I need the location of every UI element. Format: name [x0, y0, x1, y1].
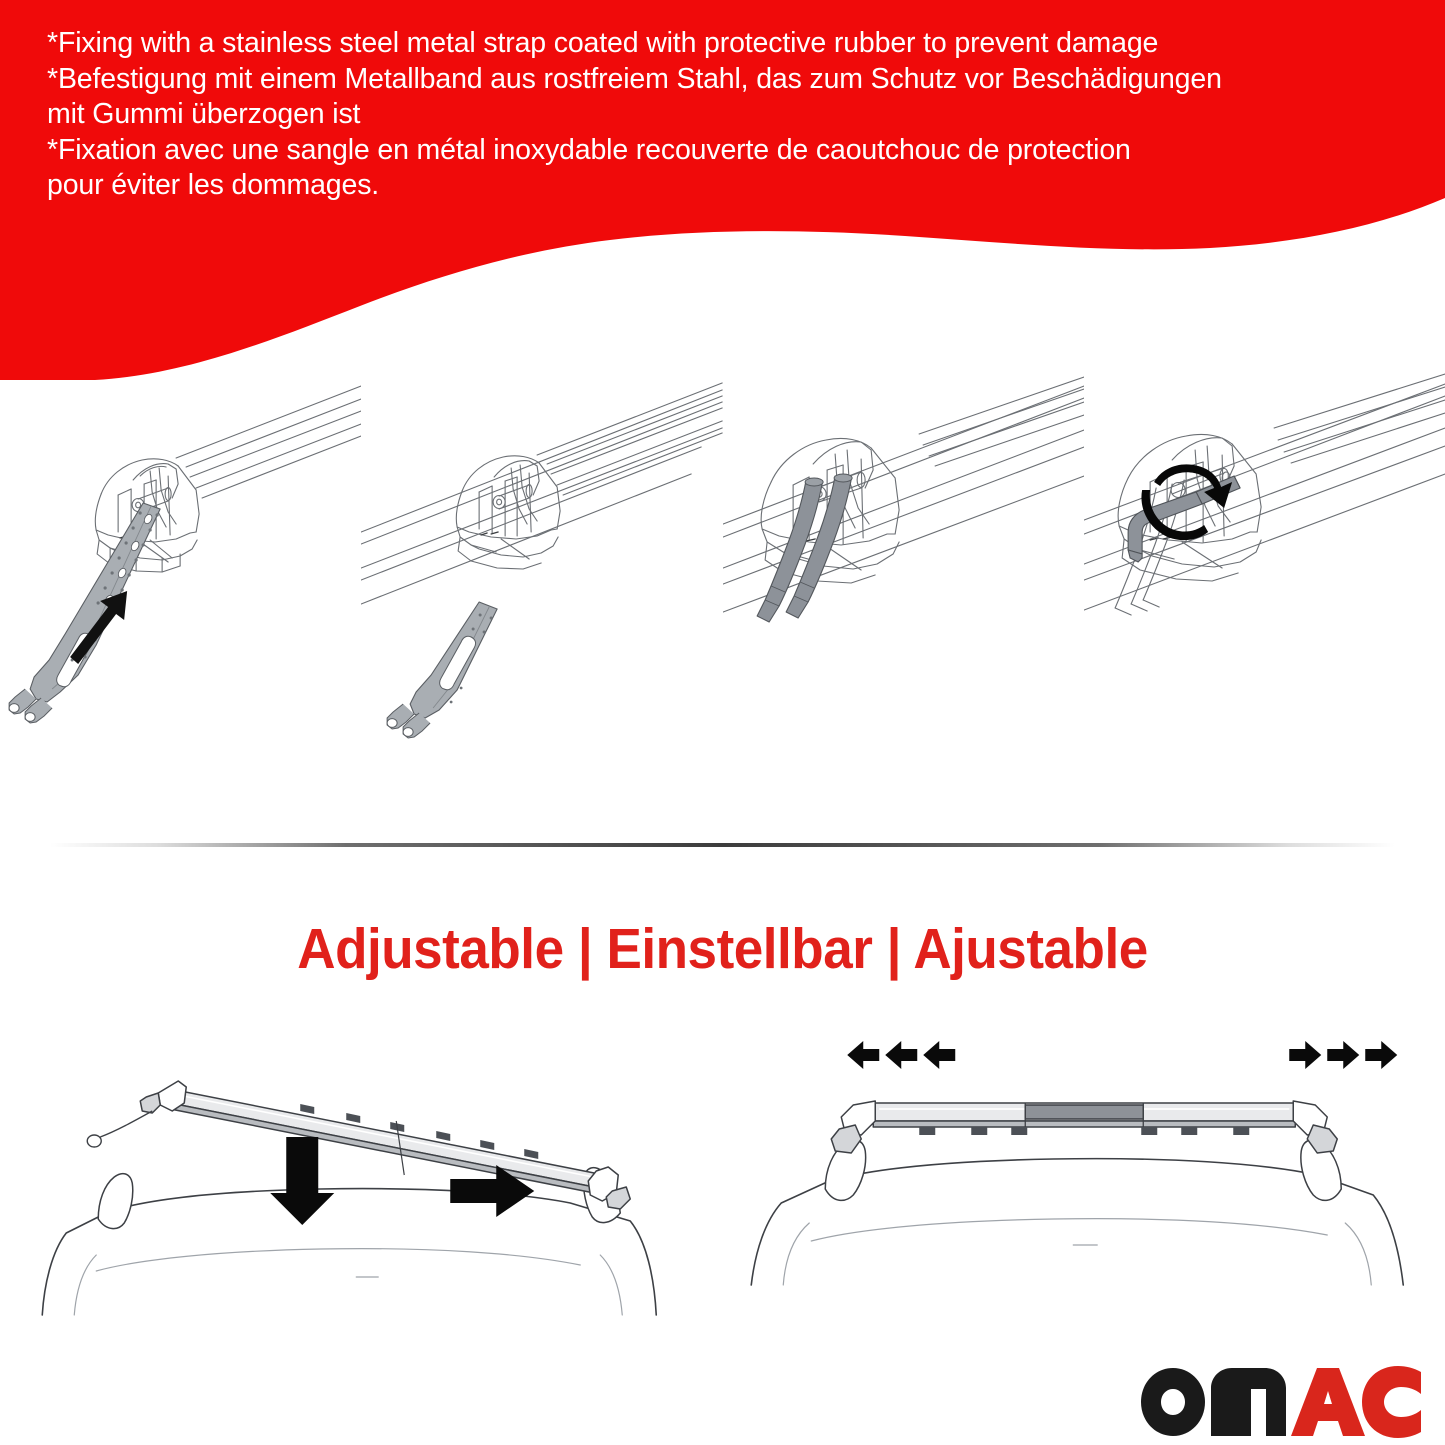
banner-text-block: *Fixing with a stainless steel metal str… — [47, 26, 1417, 204]
triple-left-arrow — [847, 1041, 955, 1069]
crossbar-assembly — [831, 1101, 1337, 1153]
step-2-foot-positioned-on-rail — [361, 372, 722, 822]
step-3-strap-wrapped-around-rail — [723, 372, 1084, 822]
banner-line-de-1: *Befestigung mit einem Metallband aus ro… — [47, 62, 1417, 98]
logo-letter-C — [1362, 1366, 1421, 1438]
crossbar-tube — [176, 386, 361, 498]
banner-line-fr-2: pour éviter les dommages. — [47, 168, 1417, 204]
crossbar-assembly — [87, 1081, 630, 1209]
installation-steps-row — [0, 372, 1445, 822]
logo-letter-m — [1211, 1368, 1286, 1436]
header-banner: *Fixing with a stainless steel metal str… — [0, 0, 1445, 380]
adjustable-heading: Adjustable | Einstellbar | Ajustable — [51, 916, 1395, 982]
metal-strap — [9, 503, 160, 723]
adjustable-diagrams-row — [0, 1025, 1445, 1325]
banner-line-en: *Fixing with a stainless steel metal str… — [47, 26, 1417, 62]
banner-line-de-2: mit Gummi überzogen ist — [47, 97, 1417, 133]
metal-strap — [387, 602, 497, 738]
omac-logo — [1131, 1358, 1421, 1442]
logo-letter-A — [1291, 1368, 1365, 1436]
crossbar-tube — [1274, 374, 1445, 463]
step-1-strap-insert-into-foot — [0, 372, 361, 822]
adjust-diagram-extend-crossbar — [723, 1025, 1445, 1325]
adjust-diagram-place-crossbar — [0, 1025, 723, 1325]
down-arrow — [270, 1137, 334, 1225]
wrapped-straps — [757, 474, 852, 622]
step-4-tighten-with-allen-key — [1084, 372, 1445, 822]
section-divider — [50, 843, 1395, 847]
triple-right-arrow — [1289, 1041, 1397, 1069]
crossbar-tube — [919, 377, 1084, 466]
banner-line-fr-1: *Fixation avec une sangle en métal inoxy… — [47, 133, 1417, 169]
roof-rail — [361, 390, 722, 604]
mounting-foot — [457, 456, 561, 569]
logo-letter-o — [1141, 1368, 1205, 1436]
